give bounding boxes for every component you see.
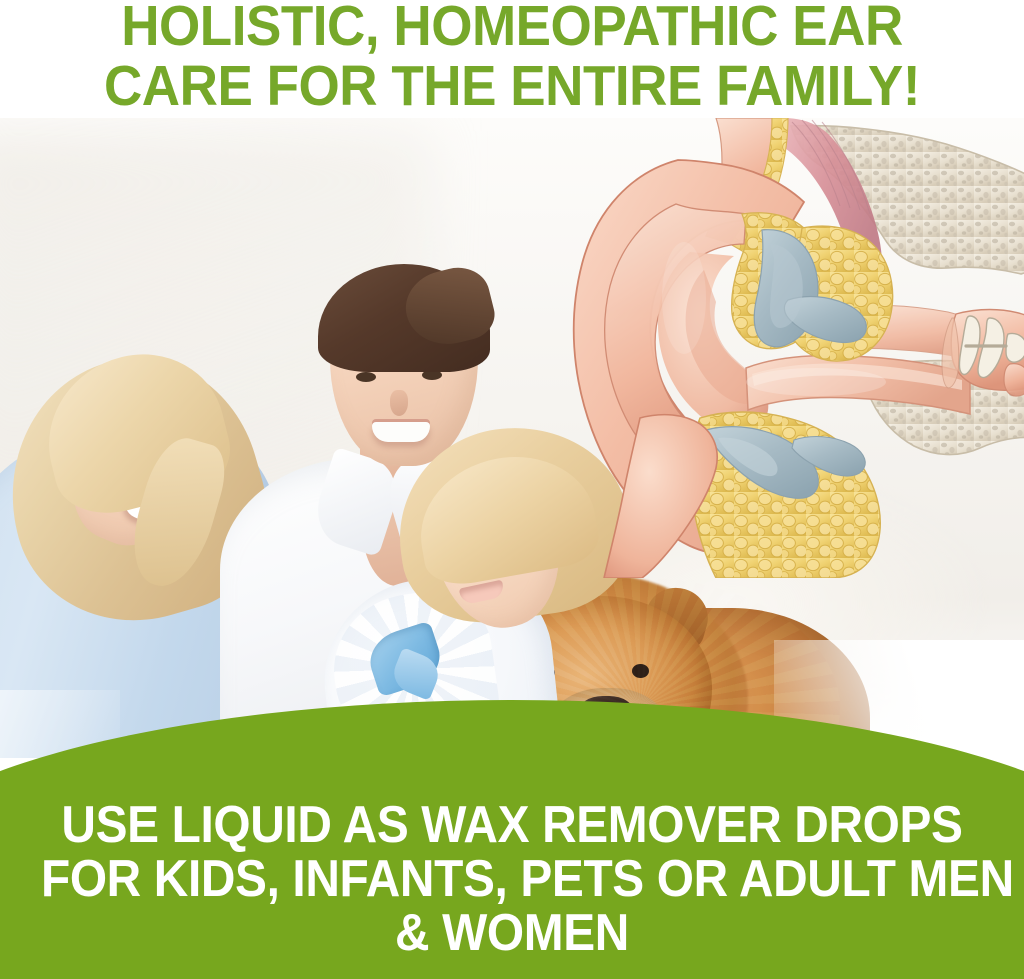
man-nose [390, 390, 408, 416]
banner-line-2: FOR KIDS, INFANTS, PETS OR ADULT MEN [41, 852, 983, 906]
bottom-banner: USE LIQUID AS WAX REMOVER DROPS FOR KIDS… [0, 640, 1024, 979]
headline-line-1: HOLISTIC, HOMEOPATHIC EAR [36, 0, 988, 56]
banner-line-3: & WOMEN [41, 906, 983, 960]
banner-text: USE LIQUID AS WAX REMOVER DROPS FOR KIDS… [0, 798, 1024, 960]
banner-line-1: USE LIQUID AS WAX REMOVER DROPS [41, 798, 983, 852]
man-eye-left [356, 372, 376, 382]
headline-line-2: CARE FOR THE ENTIRE FAMILY! [36, 56, 988, 116]
headline: HOLISTIC, HOMEOPATHIC EAR CARE FOR THE E… [0, 0, 1024, 116]
marketing-poster: HOLISTIC, HOMEOPATHIC EAR CARE FOR THE E… [0, 0, 1024, 979]
